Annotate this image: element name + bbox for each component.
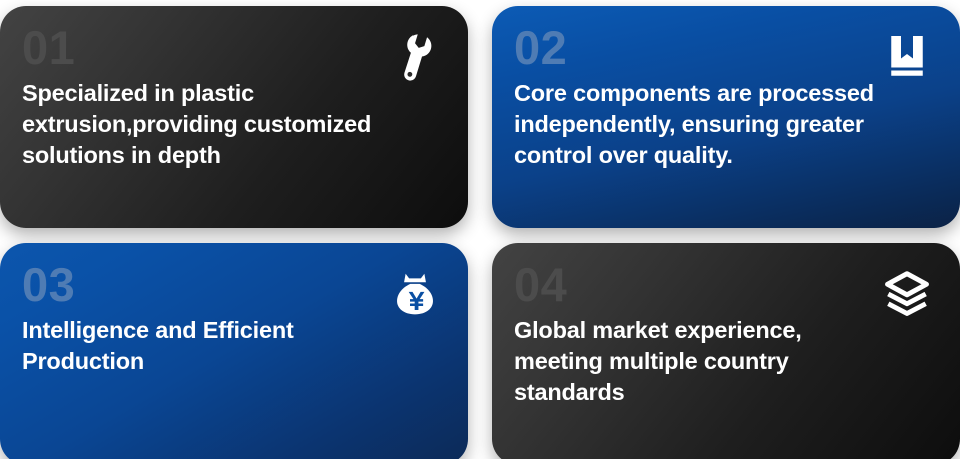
card-number: 02 [514,24,934,72]
card-number: 04 [514,261,934,309]
card-title: Core components are processed independen… [514,78,934,170]
feature-card-grid: 01 Specialized in plastic extrusion,prov… [0,0,960,459]
card-title: Global market experience, meeting multip… [514,315,934,407]
card-title: Specialized in plastic extrusion,providi… [22,78,442,170]
card-number: 01 [22,24,442,72]
card-number: 03 [22,261,442,309]
feature-card-01[interactable]: 01 Specialized in plastic extrusion,prov… [0,6,468,228]
card-title: Intelligence and Efficient Production [22,315,442,377]
feature-card-03[interactable]: 03 Intelligence and Efficient Production [0,243,468,459]
feature-card-02[interactable]: 02 Core components are processed indepen… [492,6,960,228]
feature-card-04[interactable]: 04 Global market experience, meeting mul… [492,243,960,459]
